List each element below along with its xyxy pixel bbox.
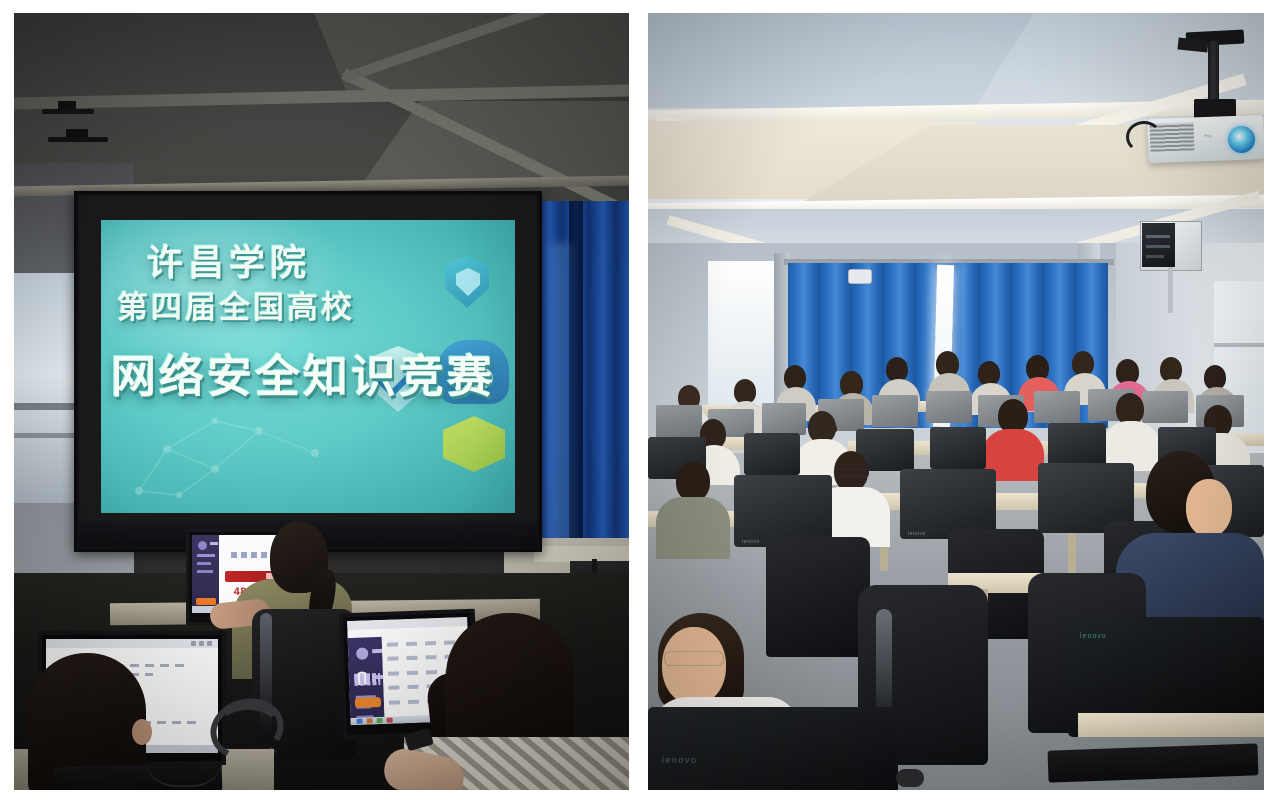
- desk-foreground: [1078, 713, 1264, 737]
- competition-title-slide: 许昌学院 第四届全国高校 网络安全知识竞赛: [101, 220, 515, 513]
- taskbar-icon[interactable]: [387, 718, 393, 723]
- mouse[interactable]: [896, 769, 924, 787]
- projector-brand-label: Proj: [1204, 133, 1211, 138]
- taskbar-icon[interactable]: [367, 718, 373, 723]
- person-left-ear: [132, 719, 152, 745]
- avatar: [198, 541, 207, 550]
- document-text-line: [142, 721, 197, 724]
- monitor-foreground-lenovo[interactable]: [648, 707, 898, 790]
- monitor-mid[interactable]: [744, 433, 800, 475]
- office-chair: [766, 537, 870, 657]
- avatar: [356, 647, 368, 659]
- monitor-base: [42, 109, 94, 114]
- window-mullion: [14, 403, 76, 410]
- photo-left-projection-room: ProScreen: [14, 13, 629, 790]
- glasses-icon: [809, 425, 837, 433]
- monitor-brand-logo: lenovo: [1080, 633, 1107, 640]
- desk-far: [534, 546, 629, 562]
- slide-title-line-2: 第四届全国高校: [117, 282, 515, 327]
- monitor-far[interactable]: [926, 391, 972, 423]
- network-nodes-icon: [119, 395, 339, 505]
- window-frame: [1214, 343, 1264, 347]
- submit-button[interactable]: [196, 598, 216, 605]
- quiz-row: [387, 640, 463, 647]
- window-mullion: [14, 433, 76, 438]
- glasses-icon: [664, 651, 724, 666]
- cabinet-shelf: [1146, 245, 1170, 248]
- monitor-mid[interactable]: [930, 427, 986, 469]
- sidebar-text: [197, 562, 211, 565]
- window-close-icon[interactable]: [207, 641, 212, 646]
- monitor-brand-logo: lenovo: [742, 539, 760, 545]
- glasses-icon: [836, 469, 869, 477]
- taskbar-icon[interactable]: [377, 718, 383, 723]
- submit-button[interactable]: [355, 697, 381, 708]
- person-foreground-right-face: [1186, 479, 1232, 537]
- photo-collage: ProScreen: [0, 0, 1280, 800]
- monitor-far[interactable]: [762, 403, 806, 435]
- projector-mount-pole: [1208, 41, 1219, 103]
- projector-lens-icon: [1228, 126, 1255, 153]
- taskbar-icon[interactable]: [357, 719, 363, 724]
- person-head-near: [676, 461, 710, 501]
- photo-right-computer-lab: Proj: [648, 13, 1264, 790]
- monitor-far[interactable]: [872, 395, 918, 427]
- conduit-pipe: [1168, 267, 1173, 313]
- slide-title-line-1: 许昌学院: [147, 234, 515, 286]
- person-head-mid: [998, 399, 1028, 433]
- hexagon-icon: [443, 416, 505, 472]
- quiz-sidebar: [348, 637, 384, 718]
- projector-cable: [1126, 121, 1162, 153]
- sidebar-text: [197, 570, 213, 573]
- monitor-base: [48, 137, 108, 142]
- sidebar-text: [210, 542, 218, 545]
- cabinet-shelf: [1146, 235, 1170, 238]
- window-minimize-icon[interactable]: [191, 641, 196, 646]
- person-foreground-left-face: [662, 627, 726, 705]
- sidebar-notice: [354, 673, 380, 686]
- monitor-mid[interactable]: [1048, 423, 1106, 465]
- window-left: [14, 273, 76, 503]
- wall-speaker: [848, 269, 872, 284]
- sidebar-text: [197, 554, 215, 557]
- curtain-highlight: [544, 243, 576, 543]
- monitor-brand-logo: lenovo: [908, 531, 926, 537]
- monitor-far[interactable]: [656, 405, 702, 439]
- projection-screen: 许昌学院 第四届全国高校 网络安全知识竞赛: [74, 191, 542, 552]
- slide-title-line-3: 网络安全知识竞赛: [111, 340, 515, 405]
- cabinet-shelf: [1146, 255, 1164, 258]
- window-maximize-icon[interactable]: [199, 641, 204, 646]
- monitor-far[interactable]: [1034, 391, 1080, 423]
- monitor-far[interactable]: [1142, 391, 1188, 423]
- person-body-near-grey: [656, 497, 730, 559]
- monitor-brand-logo: lenovo: [662, 755, 698, 765]
- quiz-sidebar: [192, 535, 219, 613]
